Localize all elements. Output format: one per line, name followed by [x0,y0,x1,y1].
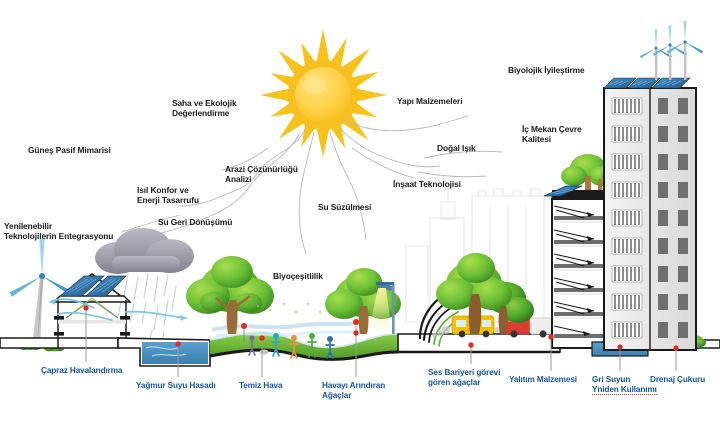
callout-capraz-havalandirma: Çapraz Havalandırma [41,366,122,376]
infographic-canvas: Güneş Pasif MimarisiSaha ve Ekolojik Değ… [0,0,720,427]
label-yapi-malzemeleri: Yapı Malzemeleri [397,97,462,107]
marker-dot-gri-suyun-yniden-kullanimi [617,344,622,349]
label-gunes-pasif-mimarisi: Güneş Pasif Mimarisi [28,146,111,156]
wind-turbine-roof-2 [653,25,687,80]
wind-turbine-roof-3 [667,21,703,80]
callout-gri-suyun-yniden-kullanimi-line2: Yniden Kullanımı [592,385,657,396]
label-biyocesitlilik: Biyoçeşitlilik [273,272,323,282]
marker-dot-yalitim-malzemesi [548,334,553,339]
callout-temiz-hava: Temiz Hava [239,381,282,391]
tower-louvers [612,98,642,338]
label-dogal-isik: Doğal Işık [437,144,476,154]
callout-gri-suyun-yniden-kullanimi-line1: Gri Suyun [592,375,657,385]
scene-illustration [0,0,720,427]
solar-panel-array-tower [604,78,690,88]
callout-havayi-arindiran-agaclar: Havayı Arındıran Ağaçlar [322,381,385,400]
marker-dot-temiz-hava [259,335,264,340]
wind-turbine-roof-1 [640,29,672,80]
tall-tower [604,21,703,350]
marker-dot-yagmur-suyu-hasadi [175,341,180,346]
label-biyolojik-iyilestirme: Biyolojik İyileştirme [508,66,585,76]
callout-yalitim-malzemesi: Yalıtım Malzemesi [509,375,577,385]
label-saha-ve-ekolojik-degerlendirme: Saha ve Ekolojik Değerlendirme [172,99,237,119]
tree-left [186,256,274,334]
label-isil-konfor-ve-enerji-tasarrufu: Isıl Konfor ve Enerji Tasarrufu [137,186,199,206]
callout-ses-bariyeri-goren-agaclar: Ses Bariyeri görevi gören ağaçlar [428,368,500,387]
label-insaat-teknolojisi: İnşaat Teknolojisi [393,180,461,190]
sun-icon [260,29,387,157]
marker-dot-ses-bariyeri-goren-agaclar [468,342,473,347]
label-yenilenebilir-teknolojilerin-entegrasyonu: Yenilenebilir Teknolojilerin Entegrasyon… [4,222,113,242]
label-arazi-cozunurlugu-analizi: Arazi Çözünürlüğü Analizi [225,165,298,185]
label-su-geri-donusumu: Su Geri Dönüşümü [158,218,232,228]
marker-dot-havayi-arindiran-agaclar [353,330,358,335]
marker-dot-capraz-havalandirma [83,305,88,310]
callout-yagmur-suyu-hasadi: Yağmur Suyu Hasadı [136,381,216,391]
label-su-suzulmesi: Su Süzülmesi [318,203,371,213]
marker-dot-drenaj-cukuru [673,345,678,350]
label-ic-mekan-cevre-kalitesi: İç Mekan Çevre Kalitesi [522,125,582,145]
callout-gri-suyun-yniden-kullanimi: Gri SuyunYniden Kullanımı [592,375,657,395]
callout-drenaj-cukuru: Drenaj Çukuru [650,375,705,385]
